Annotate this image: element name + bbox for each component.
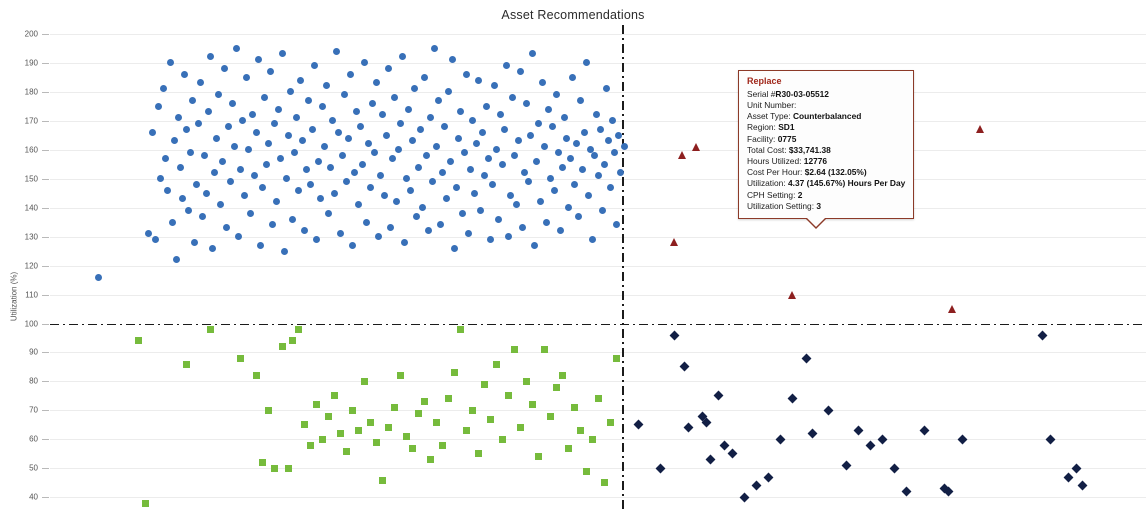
data-point-reassign[interactable] [920, 427, 927, 434]
data-point-keep[interactable] [253, 129, 260, 136]
data-point-underutilized[interactable] [355, 427, 362, 434]
data-point-keep[interactable] [589, 236, 596, 243]
data-point-keep[interactable] [339, 152, 346, 159]
data-point-keep[interactable] [485, 155, 492, 162]
data-point-keep[interactable] [223, 224, 230, 231]
data-point-underutilized[interactable] [349, 407, 356, 414]
data-point-underutilized[interactable] [481, 381, 488, 388]
data-point-keep[interactable] [393, 198, 400, 205]
data-point-keep[interactable] [531, 242, 538, 249]
data-point-keep[interactable] [217, 201, 224, 208]
data-point-keep[interactable] [439, 169, 446, 176]
data-point-underutilized[interactable] [463, 427, 470, 434]
data-point-underutilized[interactable] [577, 427, 584, 434]
data-point-keep[interactable] [507, 192, 514, 199]
data-point-underutilized[interactable] [571, 404, 578, 411]
data-point-reassign[interactable] [634, 421, 641, 428]
data-point-keep[interactable] [583, 59, 590, 66]
data-point-keep[interactable] [305, 97, 312, 104]
data-point-keep[interactable] [501, 126, 508, 133]
data-point-keep[interactable] [547, 175, 554, 182]
data-point-keep[interactable] [229, 100, 236, 107]
data-point-reassign[interactable] [714, 392, 721, 399]
data-point-reassign[interactable] [706, 456, 713, 463]
data-point-keep[interactable] [401, 239, 408, 246]
data-point-underutilized[interactable] [529, 401, 536, 408]
data-point-keep[interactable] [295, 187, 302, 194]
data-point-keep[interactable] [255, 56, 262, 63]
data-point-underutilized[interactable] [565, 445, 572, 452]
data-point-keep[interactable] [343, 178, 350, 185]
data-point-keep[interactable] [203, 190, 210, 197]
data-point-underutilized[interactable] [183, 361, 190, 368]
data-point-keep[interactable] [175, 114, 182, 121]
data-point-underutilized[interactable] [313, 401, 320, 408]
data-point-underutilized[interactable] [337, 430, 344, 437]
data-point-keep[interactable] [465, 230, 472, 237]
data-point-reassign[interactable] [702, 419, 709, 426]
data-point-keep[interactable] [561, 114, 568, 121]
data-point-keep[interactable] [155, 103, 162, 110]
data-point-keep[interactable] [503, 62, 510, 69]
data-point-underutilized[interactable] [265, 407, 272, 414]
data-point-underutilized[interactable] [439, 442, 446, 449]
data-point-keep[interactable] [481, 172, 488, 179]
data-point-keep[interactable] [199, 213, 206, 220]
data-point-underutilized[interactable] [595, 395, 602, 402]
data-point-underutilized[interactable] [279, 343, 286, 350]
data-point-reassign[interactable] [854, 427, 861, 434]
data-point-keep[interactable] [245, 146, 252, 153]
data-point-keep[interactable] [543, 219, 550, 226]
data-point-keep[interactable] [615, 132, 622, 139]
data-point-keep[interactable] [311, 62, 318, 69]
data-point-keep[interactable] [435, 97, 442, 104]
data-point-keep[interactable] [395, 146, 402, 153]
data-point-keep[interactable] [541, 143, 548, 150]
data-point-keep[interactable] [433, 143, 440, 150]
data-point-reassign[interactable] [680, 363, 687, 370]
data-point-keep[interactable] [237, 166, 244, 173]
data-point-keep[interactable] [145, 230, 152, 237]
data-point-underutilized[interactable] [373, 439, 380, 446]
data-point-underutilized[interactable] [259, 459, 266, 466]
data-point-keep[interactable] [377, 172, 384, 179]
data-point-keep[interactable] [471, 190, 478, 197]
data-point-keep[interactable] [443, 195, 450, 202]
data-point-replace[interactable] [692, 143, 700, 151]
data-point-keep[interactable] [185, 207, 192, 214]
data-point-underutilized[interactable] [505, 392, 512, 399]
data-point-keep[interactable] [321, 143, 328, 150]
data-point-keep[interactable] [353, 108, 360, 115]
data-point-reassign[interactable] [1072, 465, 1079, 472]
data-point-keep[interactable] [301, 227, 308, 234]
data-point-underutilized[interactable] [457, 326, 464, 333]
data-point-keep[interactable] [363, 219, 370, 226]
data-point-keep[interactable] [347, 71, 354, 78]
data-point-keep[interactable] [621, 143, 628, 150]
data-point-keep[interactable] [249, 111, 256, 118]
data-point-keep[interactable] [243, 74, 250, 81]
data-point-replace[interactable] [976, 125, 984, 133]
data-point-underutilized[interactable] [547, 413, 554, 420]
data-point-keep[interactable] [345, 135, 352, 142]
data-point-keep[interactable] [191, 239, 198, 246]
data-point-keep[interactable] [613, 221, 620, 228]
data-point-keep[interactable] [157, 175, 164, 182]
data-point-underutilized[interactable] [445, 395, 452, 402]
data-point-keep[interactable] [617, 169, 624, 176]
data-point-keep[interactable] [319, 103, 326, 110]
data-point-underutilized[interactable] [367, 419, 374, 426]
data-point-reassign[interactable] [1046, 436, 1053, 443]
data-point-keep[interactable] [375, 233, 382, 240]
data-point-keep[interactable] [535, 120, 542, 127]
data-point-underutilized[interactable] [361, 378, 368, 385]
data-point-keep[interactable] [515, 137, 522, 144]
data-point-keep[interactable] [285, 132, 292, 139]
data-point-keep[interactable] [160, 85, 167, 92]
data-point-keep[interactable] [263, 161, 270, 168]
data-point-keep[interactable] [407, 187, 414, 194]
data-point-underutilized[interactable] [207, 326, 214, 333]
data-point-underutilized[interactable] [295, 326, 302, 333]
data-point-keep[interactable] [303, 166, 310, 173]
data-point-keep[interactable] [423, 152, 430, 159]
data-point-keep[interactable] [373, 79, 380, 86]
data-point-keep[interactable] [265, 140, 272, 147]
data-point-keep[interactable] [233, 45, 240, 52]
data-point-reassign[interactable] [684, 424, 691, 431]
data-point-keep[interactable] [251, 172, 258, 179]
data-point-keep[interactable] [607, 184, 614, 191]
data-point-keep[interactable] [453, 184, 460, 191]
data-point-keep[interactable] [201, 152, 208, 159]
data-point-keep[interactable] [261, 94, 268, 101]
data-point-replace[interactable] [948, 305, 956, 313]
data-point-underutilized[interactable] [553, 384, 560, 391]
data-point-keep[interactable] [533, 158, 540, 165]
data-point-keep[interactable] [595, 172, 602, 179]
data-point-keep[interactable] [565, 204, 572, 211]
data-point-keep[interactable] [409, 137, 416, 144]
data-point-underutilized[interactable] [285, 465, 292, 472]
data-point-underutilized[interactable] [469, 407, 476, 414]
data-point-keep[interactable] [213, 135, 220, 142]
data-point-keep[interactable] [179, 195, 186, 202]
data-point-keep[interactable] [337, 230, 344, 237]
data-point-keep[interactable] [379, 111, 386, 118]
data-point-keep[interactable] [365, 140, 372, 147]
data-point-keep[interactable] [421, 74, 428, 81]
data-point-keep[interactable] [469, 117, 476, 124]
data-point-keep[interactable] [257, 242, 264, 249]
data-point-keep[interactable] [307, 181, 314, 188]
data-point-keep[interactable] [505, 233, 512, 240]
data-point-keep[interactable] [225, 123, 232, 130]
data-point-keep[interactable] [491, 82, 498, 89]
data-point-reassign[interactable] [890, 465, 897, 472]
data-point-keep[interactable] [537, 198, 544, 205]
data-point-keep[interactable] [551, 187, 558, 194]
data-point-keep[interactable] [281, 248, 288, 255]
data-point-keep[interactable] [427, 114, 434, 121]
data-point-keep[interactable] [162, 155, 169, 162]
data-point-keep[interactable] [495, 216, 502, 223]
data-point-reassign[interactable] [728, 450, 735, 457]
data-point-keep[interactable] [555, 149, 562, 156]
data-point-keep[interactable] [509, 94, 516, 101]
data-point-keep[interactable] [539, 79, 546, 86]
data-point-keep[interactable] [497, 111, 504, 118]
data-point-keep[interactable] [387, 224, 394, 231]
data-point-keep[interactable] [341, 91, 348, 98]
data-point-keep[interactable] [367, 184, 374, 191]
data-point-reassign[interactable] [958, 436, 965, 443]
data-point-keep[interactable] [467, 166, 474, 173]
data-point-keep[interactable] [309, 126, 316, 133]
data-point-keep[interactable] [189, 97, 196, 104]
data-point-underutilized[interactable] [535, 453, 542, 460]
data-point-underutilized[interactable] [237, 355, 244, 362]
data-point-keep[interactable] [425, 227, 432, 234]
data-point-keep[interactable] [297, 77, 304, 84]
data-point-keep[interactable] [187, 149, 194, 156]
data-point-keep[interactable] [239, 117, 246, 124]
data-point-keep[interactable] [397, 120, 404, 127]
data-point-underutilized[interactable] [397, 372, 404, 379]
data-point-keep[interactable] [511, 152, 518, 159]
data-point-keep[interactable] [413, 213, 420, 220]
data-point-keep[interactable] [563, 135, 570, 142]
data-point-keep[interactable] [459, 210, 466, 217]
data-point-keep[interactable] [525, 178, 532, 185]
data-point-keep[interactable] [267, 68, 274, 75]
data-point-keep[interactable] [455, 135, 462, 142]
data-point-keep[interactable] [313, 236, 320, 243]
data-point-keep[interactable] [289, 216, 296, 223]
data-point-reassign[interactable] [670, 332, 677, 339]
data-point-keep[interactable] [259, 184, 266, 191]
data-point-underutilized[interactable] [493, 361, 500, 368]
data-point-keep[interactable] [195, 120, 202, 127]
data-point-keep[interactable] [431, 45, 438, 52]
data-point-keep[interactable] [611, 149, 618, 156]
data-point-keep[interactable] [593, 111, 600, 118]
data-point-keep[interactable] [231, 143, 238, 150]
data-point-keep[interactable] [219, 158, 226, 165]
data-point-keep[interactable] [247, 210, 254, 217]
data-point-keep[interactable] [221, 65, 228, 72]
data-point-keep[interactable] [601, 161, 608, 168]
data-point-keep[interactable] [493, 146, 500, 153]
data-point-reassign[interactable] [698, 413, 705, 420]
data-point-underutilized[interactable] [451, 369, 458, 376]
data-point-keep[interactable] [549, 123, 556, 130]
data-point-replace[interactable] [788, 291, 796, 299]
data-point-keep[interactable] [521, 169, 528, 176]
data-point-keep[interactable] [473, 140, 480, 147]
data-point-keep[interactable] [235, 233, 242, 240]
data-point-underutilized[interactable] [421, 398, 428, 405]
data-point-underutilized[interactable] [511, 346, 518, 353]
data-point-underutilized[interactable] [589, 436, 596, 443]
data-point-keep[interactable] [325, 210, 332, 217]
data-point-keep[interactable] [591, 152, 598, 159]
data-point-keep[interactable] [209, 245, 216, 252]
data-point-keep[interactable] [351, 169, 358, 176]
data-point-underutilized[interactable] [301, 421, 308, 428]
data-point-keep[interactable] [579, 166, 586, 173]
data-point-underutilized[interactable] [253, 372, 260, 379]
data-point-keep[interactable] [447, 158, 454, 165]
data-point-underutilized[interactable] [385, 424, 392, 431]
data-point-keep[interactable] [227, 178, 234, 185]
data-point-keep[interactable] [463, 71, 470, 78]
data-point-keep[interactable] [411, 85, 418, 92]
data-point-keep[interactable] [487, 236, 494, 243]
data-point-keep[interactable] [317, 195, 324, 202]
data-point-keep[interactable] [557, 227, 564, 234]
data-point-underutilized[interactable] [135, 337, 142, 344]
data-point-keep[interactable] [577, 97, 584, 104]
data-point-keep[interactable] [419, 204, 426, 211]
data-point-keep[interactable] [385, 65, 392, 72]
data-point-keep[interactable] [475, 77, 482, 84]
data-point-keep[interactable] [399, 53, 406, 60]
data-point-reassign[interactable] [1078, 482, 1085, 489]
data-point-keep[interactable] [205, 108, 212, 115]
data-point-keep[interactable] [271, 120, 278, 127]
data-point-keep[interactable] [361, 59, 368, 66]
data-point-keep[interactable] [461, 149, 468, 156]
data-point-keep[interactable] [197, 79, 204, 86]
data-point-reassign[interactable] [866, 442, 873, 449]
data-point-keep[interactable] [415, 164, 422, 171]
data-point-keep[interactable] [519, 224, 526, 231]
data-point-keep[interactable] [329, 117, 336, 124]
data-point-keep[interactable] [381, 192, 388, 199]
data-point-underutilized[interactable] [475, 450, 482, 457]
data-point-underutilized[interactable] [613, 355, 620, 362]
data-point-keep[interactable] [167, 59, 174, 66]
data-point-underutilized[interactable] [391, 404, 398, 411]
data-point-underutilized[interactable] [601, 479, 608, 486]
data-point-keep[interactable] [513, 201, 520, 208]
data-point-replace[interactable] [670, 238, 678, 246]
data-point-keep[interactable] [273, 198, 280, 205]
data-point-underutilized[interactable] [415, 410, 422, 417]
data-point-underutilized[interactable] [409, 445, 416, 452]
data-point-reassign[interactable] [802, 355, 809, 362]
data-point-underutilized[interactable] [325, 413, 332, 420]
data-point-keep[interactable] [287, 88, 294, 95]
data-point-underutilized[interactable] [331, 392, 338, 399]
data-point-keep[interactable] [483, 103, 490, 110]
data-point-keep[interactable] [181, 71, 188, 78]
data-point-keep[interactable] [283, 175, 290, 182]
data-point-keep[interactable] [331, 190, 338, 197]
data-point-keep[interactable] [479, 129, 486, 136]
data-point-keep[interactable] [605, 137, 612, 144]
data-point-reassign[interactable] [764, 474, 771, 481]
plot-area[interactable] [50, 25, 1146, 509]
data-point-keep[interactable] [171, 137, 178, 144]
data-point-keep[interactable] [457, 108, 464, 115]
data-point-keep[interactable] [152, 236, 159, 243]
data-point-keep[interactable] [567, 155, 574, 162]
data-point-underutilized[interactable] [379, 477, 386, 484]
data-point-keep[interactable] [355, 201, 362, 208]
data-point-keep[interactable] [527, 132, 534, 139]
data-point-reassign[interactable] [808, 430, 815, 437]
data-point-keep[interactable] [183, 126, 190, 133]
data-point-underutilized[interactable] [607, 419, 614, 426]
data-point-underutilized[interactable] [523, 378, 530, 385]
data-point-reassign[interactable] [740, 494, 747, 501]
data-point-underutilized[interactable] [307, 442, 314, 449]
data-point-underutilized[interactable] [499, 436, 506, 443]
data-point-keep[interactable] [369, 100, 376, 107]
data-point-keep[interactable] [609, 117, 616, 124]
data-point-underutilized[interactable] [343, 448, 350, 455]
data-point-keep[interactable] [207, 53, 214, 60]
data-point-replace[interactable] [678, 151, 686, 159]
data-point-keep[interactable] [523, 100, 530, 107]
data-point-reassign[interactable] [902, 488, 909, 495]
data-point-underutilized[interactable] [271, 465, 278, 472]
data-point-keep[interactable] [173, 256, 180, 263]
data-point-keep[interactable] [275, 106, 282, 113]
data-point-keep[interactable] [327, 164, 334, 171]
data-point-keep[interactable] [164, 187, 171, 194]
data-point-underutilized[interactable] [487, 416, 494, 423]
data-point-reassign[interactable] [878, 436, 885, 443]
data-point-keep[interactable] [449, 56, 456, 63]
data-point-keep[interactable] [389, 155, 396, 162]
data-point-keep[interactable] [445, 88, 452, 95]
data-point-keep[interactable] [429, 178, 436, 185]
data-point-reassign[interactable] [1064, 474, 1071, 481]
data-point-underutilized[interactable] [142, 500, 149, 507]
data-point-keep[interactable] [545, 106, 552, 113]
data-point-keep[interactable] [581, 129, 588, 136]
data-point-reassign[interactable] [824, 407, 831, 414]
data-point-reassign[interactable] [720, 442, 727, 449]
data-point-underutilized[interactable] [541, 346, 548, 353]
data-point-keep[interactable] [333, 48, 340, 55]
data-point-keep[interactable] [571, 181, 578, 188]
data-point-keep[interactable] [391, 94, 398, 101]
data-point-keep[interactable] [211, 169, 218, 176]
data-point-keep[interactable] [417, 126, 424, 133]
data-point-keep[interactable] [599, 207, 606, 214]
data-point-keep[interactable] [441, 123, 448, 130]
data-point-keep[interactable] [169, 219, 176, 226]
data-point-underutilized[interactable] [583, 468, 590, 475]
data-point-underutilized[interactable] [319, 436, 326, 443]
data-point-keep[interactable] [269, 221, 276, 228]
data-point-reassign[interactable] [776, 436, 783, 443]
data-point-keep[interactable] [177, 164, 184, 171]
data-point-keep[interactable] [437, 221, 444, 228]
data-point-keep[interactable] [405, 106, 412, 113]
data-point-keep[interactable] [603, 85, 610, 92]
data-point-keep[interactable] [573, 140, 580, 147]
data-point-keep[interactable] [529, 50, 536, 57]
data-point-underutilized[interactable] [517, 424, 524, 431]
